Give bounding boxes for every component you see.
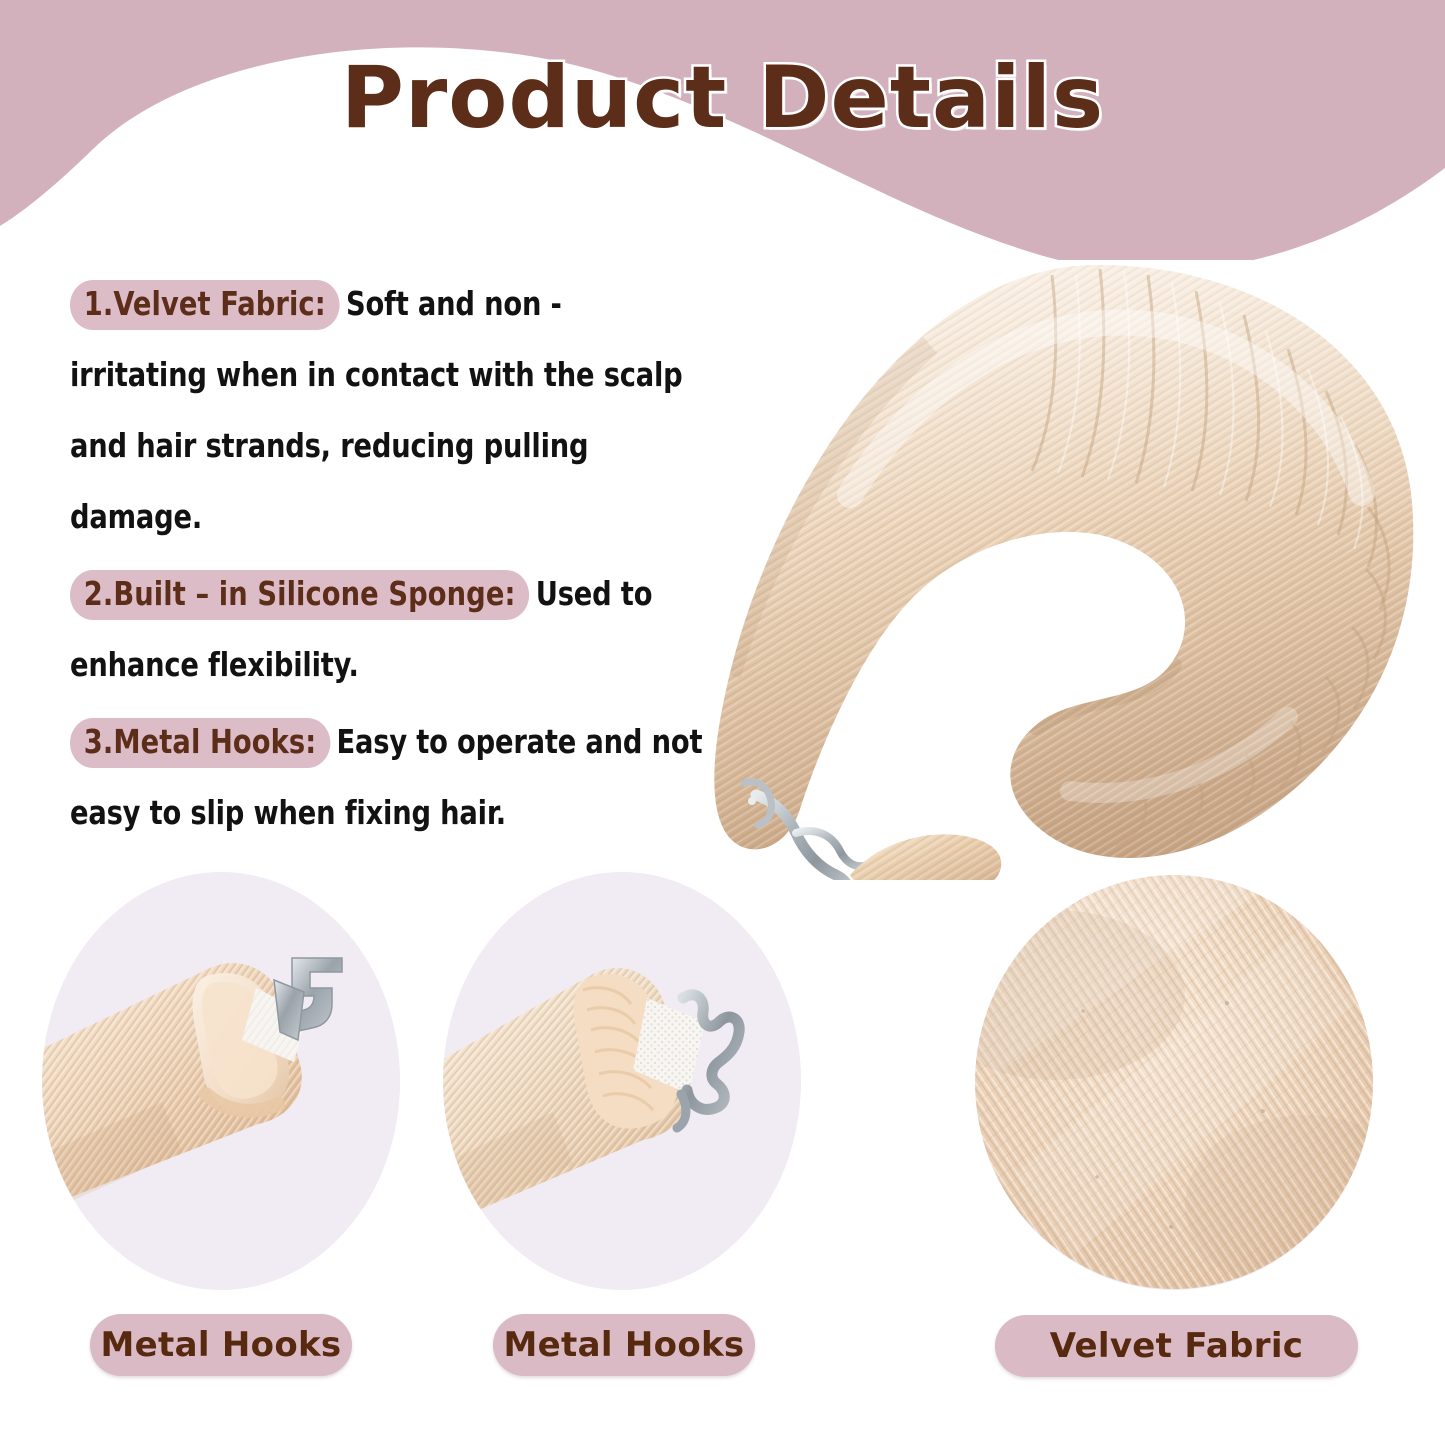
feature-list: 1.Velvet Fabric:Soft and non - irritatin… [70, 268, 760, 854]
feature-tag-metal-hooks: 3.Metal Hooks: [70, 718, 330, 768]
detail-card-metal-hooks-1: Metal Hooks [42, 872, 400, 1290]
caption-metal-hooks-2: Metal Hooks [493, 1314, 755, 1376]
header-wave-shape [0, 0, 1445, 260]
header-banner [0, 0, 1445, 260]
hero-velvet-body [700, 235, 1445, 880]
hero-product-image [700, 235, 1445, 880]
feature-paragraph: 3.Metal Hooks:Easy to operate and not ea… [70, 706, 705, 848]
hero-velvet-lower-tip [850, 834, 1001, 880]
detail-circle-velvet-fabric [975, 875, 1373, 1290]
detail-card-metal-hooks-2: Metal Hooks [443, 872, 801, 1290]
detail-circle-metal-hooks-1 [42, 872, 400, 1290]
feature-paragraph: 1.Velvet Fabric:Soft and non - irritatin… [70, 268, 705, 552]
detail-card-velvet-fabric: Velvet Fabric [975, 875, 1373, 1290]
feature-paragraph: 2.Built – in Silicone Sponge:Used to enh… [70, 558, 705, 700]
product-details-page: Product Details 1.Velvet Fabric:Soft and… [0, 0, 1445, 1445]
caption-metal-hooks-1: Metal Hooks [90, 1314, 352, 1376]
caption-velvet-fabric: Velvet Fabric [995, 1315, 1358, 1377]
feature-item-silicone-sponge: 2.Built – in Silicone Sponge:Used to enh… [70, 558, 760, 700]
feature-item-velvet-fabric: 1.Velvet Fabric:Soft and non - irritatin… [70, 268, 760, 552]
caption-label: Metal Hooks [101, 1325, 342, 1365]
detail-circle-metal-hooks-2 [443, 872, 801, 1290]
feature-tag-velvet-fabric: 1.Velvet Fabric: [70, 280, 340, 330]
feature-item-metal-hooks: 3.Metal Hooks:Easy to operate and not ea… [70, 706, 760, 848]
caption-label: Metal Hooks [504, 1325, 745, 1365]
caption-label: Velvet Fabric [1050, 1326, 1303, 1366]
feature-tag-silicone-sponge: 2.Built – in Silicone Sponge: [70, 570, 529, 620]
